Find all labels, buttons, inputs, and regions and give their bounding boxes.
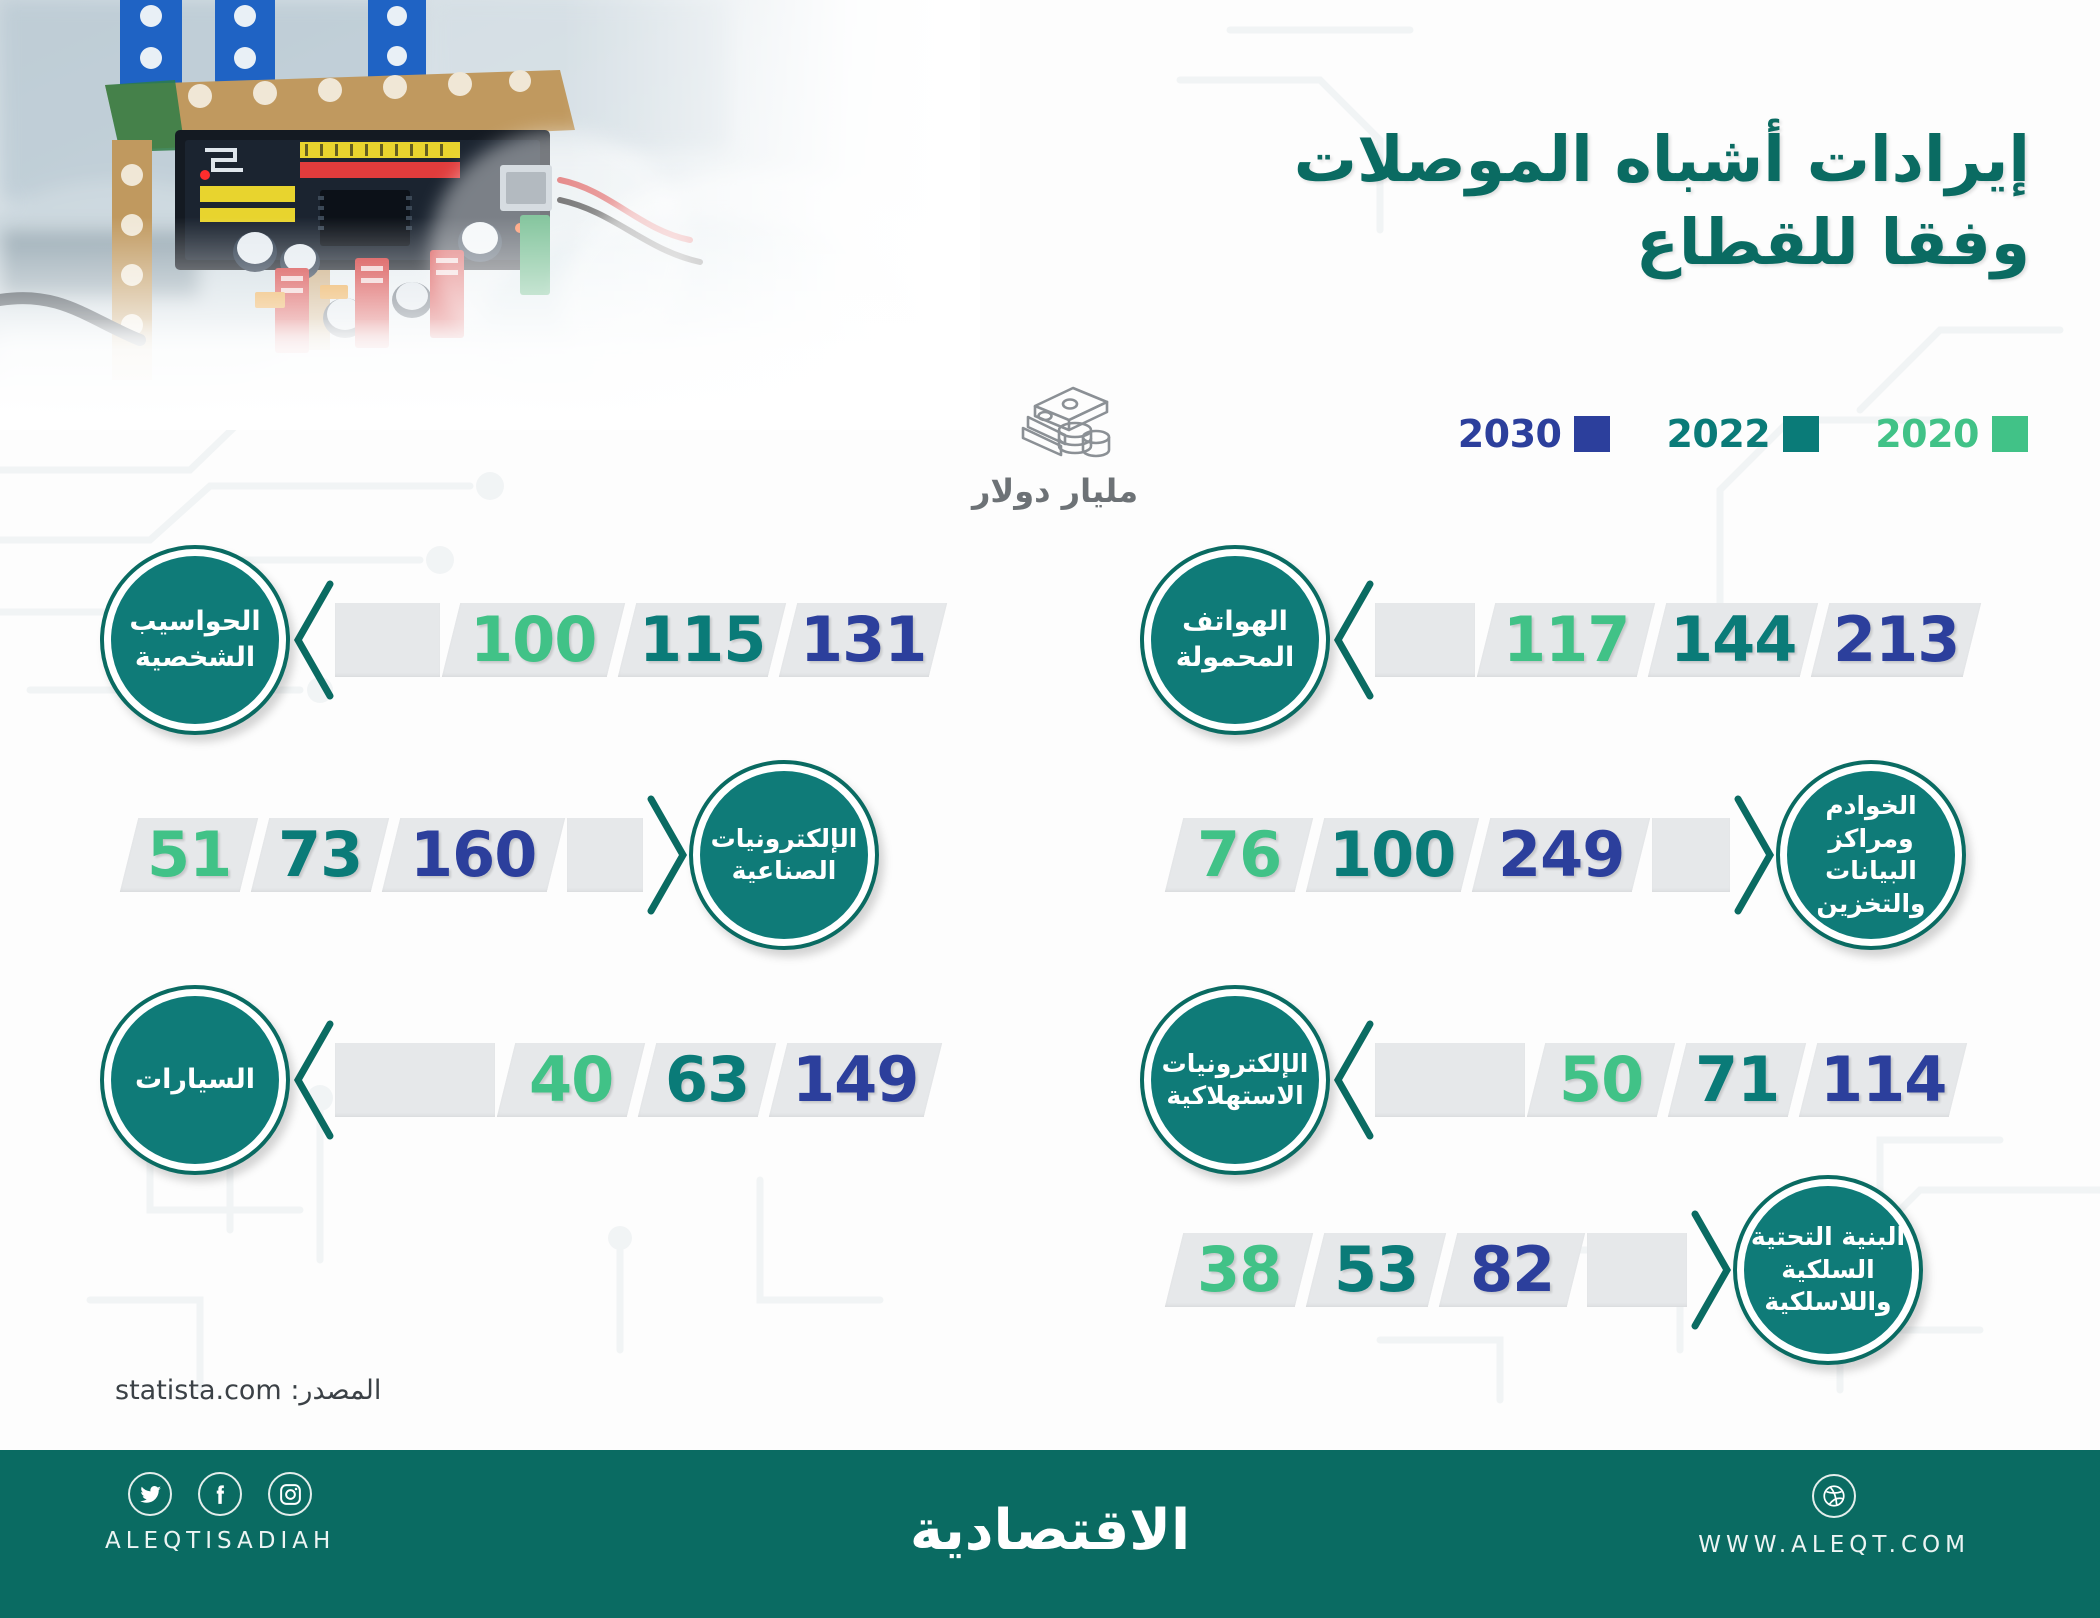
footer-bar: ALEQTISADIAH الاقتصادية WWW.ALEQT.COM	[0, 1450, 2100, 1618]
value-slice-2030: 160	[382, 818, 565, 892]
value-2022: 53	[1334, 1233, 1418, 1306]
value-2030: 114	[1820, 1043, 1946, 1116]
category-bubble[interactable]: السيارات	[100, 985, 290, 1175]
legend-item-2020[interactable]: 2020	[1875, 412, 2028, 456]
category-label: الإلكترونيات الصناعية	[689, 823, 879, 888]
category-label: الحواسيب الشخصية	[100, 604, 290, 676]
category-label: البنية التحتية السلكية واللاسلكية	[1733, 1221, 1923, 1319]
instagram-icon[interactable]	[268, 1472, 312, 1516]
value-slice-2030: 131	[779, 603, 947, 677]
value-slice-2030: 213	[1811, 603, 1981, 677]
value-slice-2030: 82	[1439, 1233, 1585, 1307]
value-strip: 114 71 50	[1376, 1043, 1958, 1117]
value-slice-2022: 100	[1306, 818, 1479, 892]
infographic-poster: إيرادات أشباه الموصلات وفقا للقطاع 2030 …	[0, 0, 2100, 1618]
value-2022: 73	[278, 818, 362, 891]
hero-fade-bottom	[0, 217, 980, 430]
value-slice-2020: 100	[442, 603, 625, 677]
value-slice-2030: 114	[1799, 1043, 1967, 1117]
category-bubble[interactable]: الحواسيب الشخصية	[100, 545, 290, 735]
legend-swatch-2020	[1992, 416, 2028, 452]
value-2030: 213	[1833, 603, 1959, 676]
chevron-right-icon	[643, 793, 689, 917]
footer-website: WWW.ALEQT.COM	[1698, 1532, 1970, 1558]
value-2030: 160	[410, 818, 536, 891]
value-slice-2022: 53	[1306, 1233, 1446, 1307]
legend-label-2020: 2020	[1875, 412, 1979, 456]
dribbble-icon[interactable]	[1812, 1474, 1856, 1518]
category-bubble[interactable]: الإلكترونيات الاستهلاكية	[1140, 985, 1330, 1175]
value-slice-2020: 76	[1165, 818, 1313, 892]
category-bubble[interactable]: الهواتف المحمولة	[1140, 545, 1330, 735]
legend-swatch-2022	[1783, 416, 1819, 452]
strip-tail	[1375, 1043, 1525, 1117]
hero-photo-circuitboard	[0, 0, 980, 430]
title-line-1: إيرادات أشباه الموصلات	[1210, 118, 2030, 201]
category-label: الإلكترونيات الاستهلاكية	[1140, 1048, 1330, 1113]
legend-label-2030: 2030	[1458, 412, 1562, 456]
table-row: الإلكترونيات الصناعية 160 73 51	[130, 775, 879, 935]
value-2022: 63	[665, 1043, 749, 1116]
table-row: 149 63 40 السيارات	[100, 1000, 933, 1160]
value-strip: 82 53 38	[1175, 1233, 1687, 1307]
value-2020: 50	[1559, 1043, 1643, 1116]
table-row: الخوادم ومراكز البيانات والتخزين 249 100…	[1175, 775, 1966, 935]
footer-social-block: ALEQTISADIAH	[105, 1472, 335, 1554]
chevron-right-icon	[1730, 793, 1776, 917]
footer-logo: الاقتصادية	[910, 1498, 1190, 1563]
legend-swatch-2030	[1574, 416, 1610, 452]
value-slice-2022: 71	[1668, 1043, 1806, 1117]
value-strip: 249 100 76	[1175, 818, 1730, 892]
twitter-icon[interactable]	[128, 1472, 172, 1516]
chart-legend: 2030 2022 2020	[1458, 412, 2028, 456]
money-stack-icon	[995, 372, 1115, 464]
value-2030: 82	[1470, 1233, 1554, 1306]
chevron-right-icon	[1687, 1208, 1733, 1332]
facebook-icon[interactable]	[198, 1472, 242, 1516]
chevron-left-icon	[1330, 578, 1376, 702]
value-slice-2020: 51	[120, 818, 258, 892]
category-bubble[interactable]: الخوادم ومراكز البيانات والتخزين	[1776, 760, 1966, 950]
value-slice-2022: 115	[618, 603, 786, 677]
value-2022: 115	[639, 603, 765, 676]
value-slice-2020: 38	[1165, 1233, 1313, 1307]
legend-label-2022: 2022	[1666, 412, 1770, 456]
value-2022: 71	[1695, 1043, 1779, 1116]
chevron-left-icon	[1330, 1018, 1376, 1142]
source-note: المصدر: statista.com	[115, 1375, 381, 1406]
value-2020: 117	[1503, 603, 1629, 676]
value-2020: 76	[1197, 818, 1281, 891]
strip-tail	[335, 603, 440, 677]
strip-head	[1587, 1233, 1687, 1307]
value-strip: 149 63 40	[336, 1043, 933, 1117]
value-2020: 38	[1197, 1233, 1281, 1306]
value-strip: 160 73 51	[130, 818, 643, 892]
value-2030: 131	[800, 603, 926, 676]
strip-head	[567, 818, 643, 892]
footer-brand-caption: ALEQTISADIAH	[105, 1528, 335, 1554]
category-label: الهواتف المحمولة	[1140, 604, 1330, 676]
value-2030: 249	[1498, 818, 1624, 891]
category-bubble[interactable]: البنية التحتية السلكية واللاسلكية	[1733, 1175, 1923, 1365]
unit-indicator: مليار دولار	[940, 372, 1170, 510]
chevron-left-icon	[290, 578, 336, 702]
chevron-left-icon	[290, 1018, 336, 1142]
value-slice-2020: 50	[1527, 1043, 1675, 1117]
value-strip: 131 115 100	[336, 603, 938, 677]
value-2020: 40	[529, 1043, 613, 1116]
value-slice-2030: 249	[1472, 818, 1650, 892]
page-title: إيرادات أشباه الموصلات وفقا للقطاع	[1210, 118, 2030, 284]
footer-website-block: WWW.ALEQT.COM	[1698, 1474, 1970, 1558]
table-row: 131 115 100 الحواسيب الشخصية	[100, 560, 938, 720]
strip-head	[1652, 818, 1730, 892]
value-2022: 144	[1670, 603, 1796, 676]
value-strip: 213 144 117	[1376, 603, 1972, 677]
table-row: 114 71 50 الإلكترونيات الاستهلاكية	[1140, 1000, 1958, 1160]
strip-tail	[335, 1043, 495, 1117]
legend-item-2030[interactable]: 2030	[1458, 412, 1611, 456]
value-slice-2030: 149	[769, 1043, 942, 1117]
value-slice-2020: 117	[1477, 603, 1655, 677]
table-row: البنية التحتية السلكية واللاسلكية 82 53 …	[1175, 1190, 1923, 1350]
value-2020: 100	[470, 603, 596, 676]
legend-item-2022[interactable]: 2022	[1666, 412, 1819, 456]
value-slice-2022: 63	[638, 1043, 776, 1117]
category-label: الخوادم ومراكز البيانات والتخزين	[1776, 790, 1966, 920]
value-slice-2022: 73	[251, 818, 389, 892]
value-2030: 149	[792, 1043, 918, 1116]
category-label: السيارات	[123, 1062, 267, 1098]
value-2022: 100	[1329, 818, 1455, 891]
table-row: 213 144 117 الهواتف المحمولة	[1140, 560, 1972, 720]
value-slice-2020: 40	[497, 1043, 645, 1117]
social-links	[128, 1472, 312, 1516]
value-2020: 51	[147, 818, 231, 891]
category-bubble[interactable]: الإلكترونيات الصناعية	[689, 760, 879, 950]
title-line-2: وفقا للقطاع	[1210, 201, 2030, 284]
unit-label: مليار دولار	[940, 472, 1170, 510]
value-slice-2022: 144	[1648, 603, 1818, 677]
strip-tail	[1375, 603, 1475, 677]
